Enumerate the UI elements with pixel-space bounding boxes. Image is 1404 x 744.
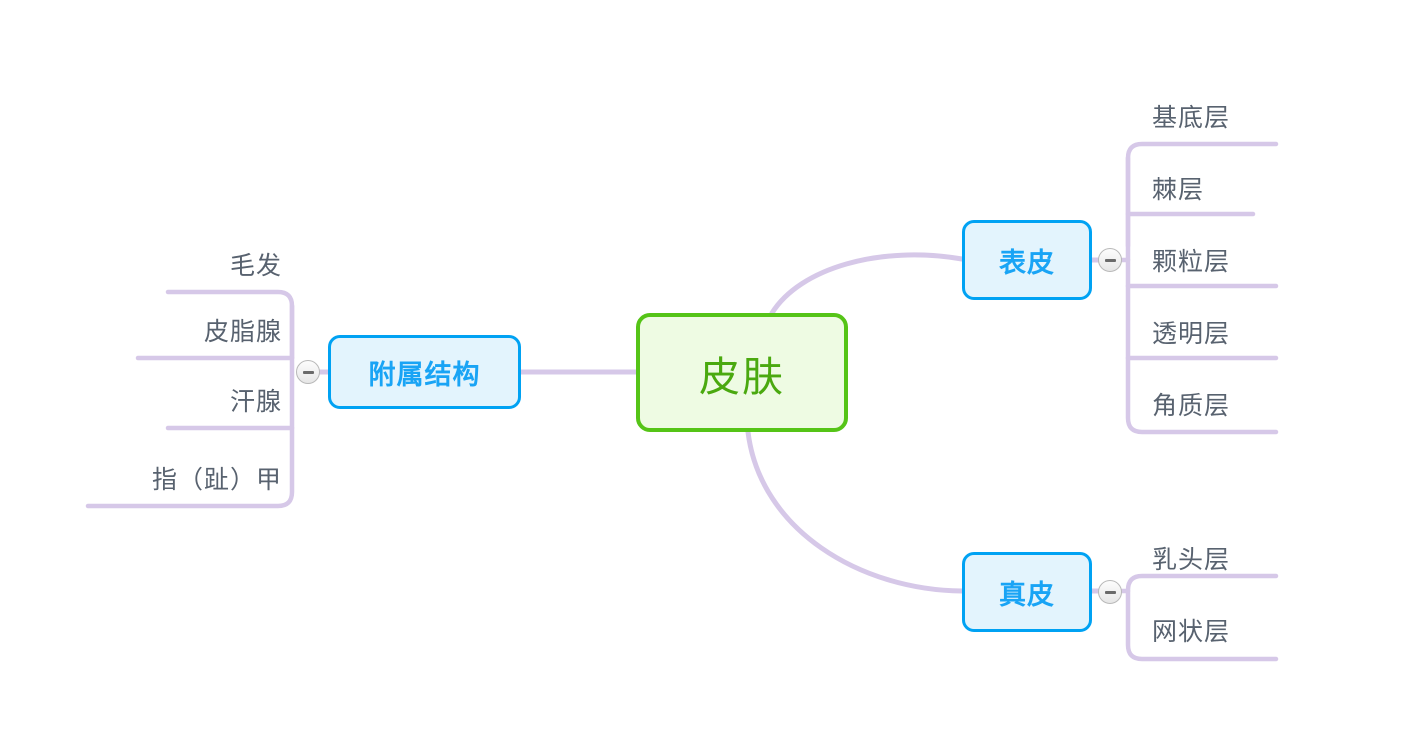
branch-node-epidermis-label: 表皮 xyxy=(999,241,1055,280)
leaf-accessory-3[interactable]: 指（趾）甲 xyxy=(40,460,282,496)
minus-icon xyxy=(303,371,314,374)
leaf-label: 乳头层 xyxy=(1152,546,1230,574)
collapse-button-epidermis[interactable] xyxy=(1098,248,1122,272)
leaf-label: 基底层 xyxy=(1152,104,1230,132)
leaf-accessory-0[interactable]: 毛发 xyxy=(60,246,282,282)
leaf-dermis-0[interactable]: 乳头层 xyxy=(1152,540,1230,576)
collapse-button-accessory[interactable] xyxy=(296,360,320,384)
connector-root-dermis xyxy=(748,432,962,591)
leaf-label: 棘层 xyxy=(1152,176,1204,204)
leaf-label: 汗腺 xyxy=(230,388,282,416)
leaf-label: 指（趾）甲 xyxy=(152,466,282,494)
leaf-epidermis-4[interactable]: 角质层 xyxy=(1152,386,1230,422)
leaf-label: 透明层 xyxy=(1152,320,1230,348)
leaf-epidermis-0[interactable]: 基底层 xyxy=(1152,98,1230,134)
root-node[interactable]: 皮肤 xyxy=(636,313,848,432)
minus-icon xyxy=(1105,591,1116,594)
leaf-label: 毛发 xyxy=(230,252,282,280)
leaf-epidermis-1[interactable]: 棘层 xyxy=(1152,170,1204,206)
leaf-label: 颗粒层 xyxy=(1152,248,1230,276)
branch-node-dermis-label: 真皮 xyxy=(999,573,1055,612)
root-node-label: 皮肤 xyxy=(699,343,785,403)
connector-root-epidermis xyxy=(772,255,962,313)
minus-icon xyxy=(1105,259,1116,262)
leaf-accessory-1[interactable]: 皮脂腺 xyxy=(60,312,282,348)
leaf-label: 角质层 xyxy=(1152,392,1230,420)
leaf-label: 网状层 xyxy=(1152,618,1230,646)
branch-node-epidermis[interactable]: 表皮 xyxy=(962,220,1092,300)
branch-node-accessory[interactable]: 附属结构 xyxy=(328,335,521,409)
branch-node-dermis[interactable]: 真皮 xyxy=(962,552,1092,632)
leaf-epidermis-3[interactable]: 透明层 xyxy=(1152,314,1230,350)
leaf-accessory-2[interactable]: 汗腺 xyxy=(60,382,282,418)
branch-node-accessory-label: 附属结构 xyxy=(369,353,481,392)
leaf-label: 皮脂腺 xyxy=(204,318,282,346)
leaf-dermis-1[interactable]: 网状层 xyxy=(1152,612,1230,648)
leaf-epidermis-2[interactable]: 颗粒层 xyxy=(1152,242,1230,278)
mindmap-canvas: 皮肤 附属结构 毛发 皮脂腺 汗腺 指（趾）甲 表皮 基底层 棘层 颗粒层 透明… xyxy=(0,0,1404,744)
collapse-button-dermis[interactable] xyxy=(1098,580,1122,604)
